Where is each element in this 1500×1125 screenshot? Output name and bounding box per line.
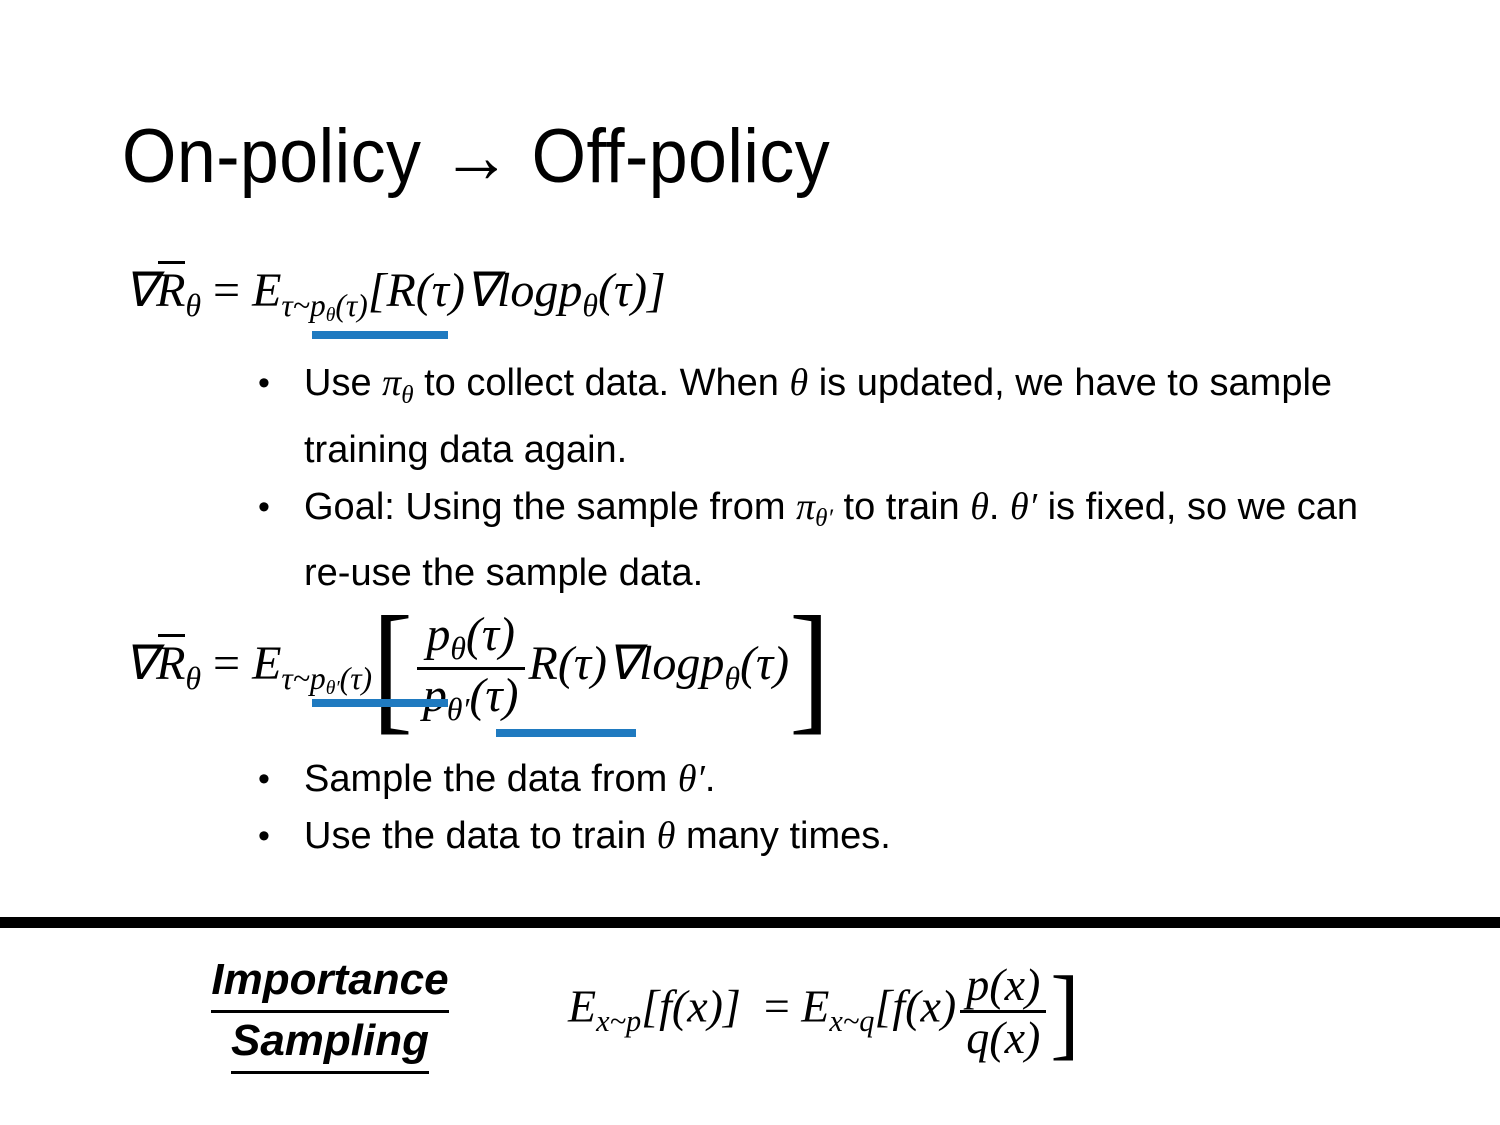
page-title: On-policy → Off-policy [122, 112, 830, 202]
eq2-blue-underline-subscript [312, 699, 448, 707]
eq1-nabla: ∇ [124, 264, 156, 317]
eq1-theta-sub: θ [185, 288, 201, 324]
eq3-fraction-denominator: q(x) [960, 1010, 1046, 1063]
eq2-expectation: E [252, 637, 281, 690]
bullet-dot-icon: • [258, 809, 304, 864]
seg-theta-prime: θ′ [1010, 486, 1037, 528]
eq2-bracket-close: ] [789, 585, 830, 750]
num-tail: (τ) [466, 608, 515, 661]
eq2-rbar: R [156, 636, 185, 691]
list-item: • Goal: Using the sample from πθ′ to tra… [258, 480, 1388, 602]
eq2-fraction-numerator: pθ(τ) [417, 609, 525, 667]
bullet-text-1: Use πθ to collect data. When θ is update… [304, 356, 1388, 478]
eq1-sub-tau: τ~p [281, 288, 325, 323]
eq1-body-tail: (τ)] [598, 264, 666, 317]
seg-pi: π [796, 486, 815, 528]
equation-off-policy-gradient: ∇Rθ = Eτ~pθ′(τ)[ pθ(τ) pθ′(τ) R(τ)∇logpθ… [124, 598, 830, 738]
bullet-dot-icon: • [258, 356, 304, 411]
eq2-sub-theta-prime: θ′ [326, 677, 340, 700]
seg-text-2: to train [833, 486, 970, 528]
bullet-text-3: Sample the data from θ′. [304, 752, 1258, 807]
importance-sampling-label: Importance Sampling [170, 952, 490, 1074]
seg-text-3: . [989, 486, 1010, 528]
bullet-dot-icon: • [258, 752, 304, 807]
eq3-lhs-body: [f(x)] [641, 981, 741, 1032]
eq2-bracket-open: [ [372, 585, 413, 750]
eq2-body-sub: θ [724, 661, 740, 697]
seg-text: Goal: Using the sample from [304, 486, 796, 528]
eq3-lhs-subscript: x~p [596, 1004, 641, 1039]
seg-theta: θ [970, 486, 989, 528]
bullet-text-2: Goal: Using the sample from πθ′ to train… [304, 480, 1388, 602]
num-theta: θ [450, 632, 466, 666]
seg-pi: π [382, 362, 401, 404]
eq2-equals: = [213, 637, 240, 690]
eq1-expectation: E [252, 264, 281, 317]
bullet-dot-icon: • [258, 480, 304, 535]
eq3-rhs-open: [f(x) [875, 981, 957, 1032]
eq1-equals: = [213, 264, 240, 317]
bullet-list-top: • Use πθ to collect data. When θ is upda… [258, 356, 1388, 603]
equation-on-policy-gradient: ∇Rθ = Eτ~pθ(τ)[R(τ)∇logpθ(τ)] [124, 262, 666, 327]
horizontal-divider [0, 917, 1500, 928]
equation-importance-sampling: Ex~p[f(x)] = Ex~q[f(x) p(x) q(x) ] [568, 960, 1079, 1062]
importance-sampling-line-2: Sampling [231, 1013, 429, 1074]
seg-text-2: to collect data. When [414, 362, 790, 404]
eq2-fraction-denominator: pθ′(τ) [417, 667, 525, 728]
eq2-expectation-subscript: τ~pθ′(τ) [281, 661, 372, 700]
eq2-nabla: ∇ [124, 637, 156, 690]
eq2-blue-underline-denominator [496, 729, 636, 737]
list-item: • Use the data to train θ many times. [258, 809, 1258, 864]
seg-text-2: many times. [675, 815, 890, 857]
eq3-rhs-E: E [801, 981, 829, 1032]
importance-sampling-line-1: Importance [211, 952, 448, 1013]
bullet-text-4: Use the data to train θ many times. [304, 809, 1258, 864]
eq2-body-tail: (τ) [740, 637, 789, 690]
eq1-rbar: R [156, 263, 185, 318]
den-tail: (τ) [469, 669, 518, 722]
eq3-rhs-subscript: x~q [829, 1004, 874, 1039]
eq3-equals: = [764, 981, 790, 1032]
seg-text: Use the data to train [304, 815, 657, 857]
eq3-bracket-close: ] [1050, 952, 1079, 1071]
eq1-sub-theta: θ [326, 304, 336, 327]
num-p: p [426, 608, 450, 661]
eq3-fraction-numerator: p(x) [960, 960, 1046, 1010]
seg-theta-prime-sub: θ′ [815, 491, 833, 546]
eq2-sub-tail: (τ) [340, 661, 372, 696]
seg-text: Sample the data from [304, 758, 678, 800]
seg-text: Use [304, 362, 382, 404]
eq3-fraction: p(x) q(x) [960, 960, 1046, 1062]
eq2-theta-sub: θ [185, 661, 201, 697]
bullet-list-bottom: • Sample the data from θ′. • Use the dat… [258, 752, 1258, 866]
list-item: • Sample the data from θ′. [258, 752, 1258, 807]
eq3-lhs-E: E [568, 981, 596, 1032]
eq2-body: R(τ)∇logp [529, 637, 725, 690]
eq1-expectation-subscript: τ~pθ(τ) [281, 288, 367, 327]
seg-theta: θ [657, 815, 676, 857]
seg-theta-sub: θ [401, 368, 413, 423]
eq1-body-sub: θ [582, 288, 598, 324]
den-theta-prime: θ′ [447, 693, 470, 727]
seg-theta: θ [790, 362, 809, 404]
den-p: p [423, 669, 447, 722]
eq2-sub-tau: τ~p [281, 661, 325, 696]
eq2-fraction: pθ(τ) pθ′(τ) [417, 609, 525, 727]
seg-theta-prime: θ′ [678, 758, 705, 800]
eq1-blue-underline [312, 331, 448, 339]
seg-text-2: . [705, 758, 716, 800]
eq1-sub-tail: (τ) [335, 288, 367, 323]
eq1-body: [R(τ)∇logp [368, 264, 583, 317]
list-item: • Use πθ to collect data. When θ is upda… [258, 356, 1388, 478]
